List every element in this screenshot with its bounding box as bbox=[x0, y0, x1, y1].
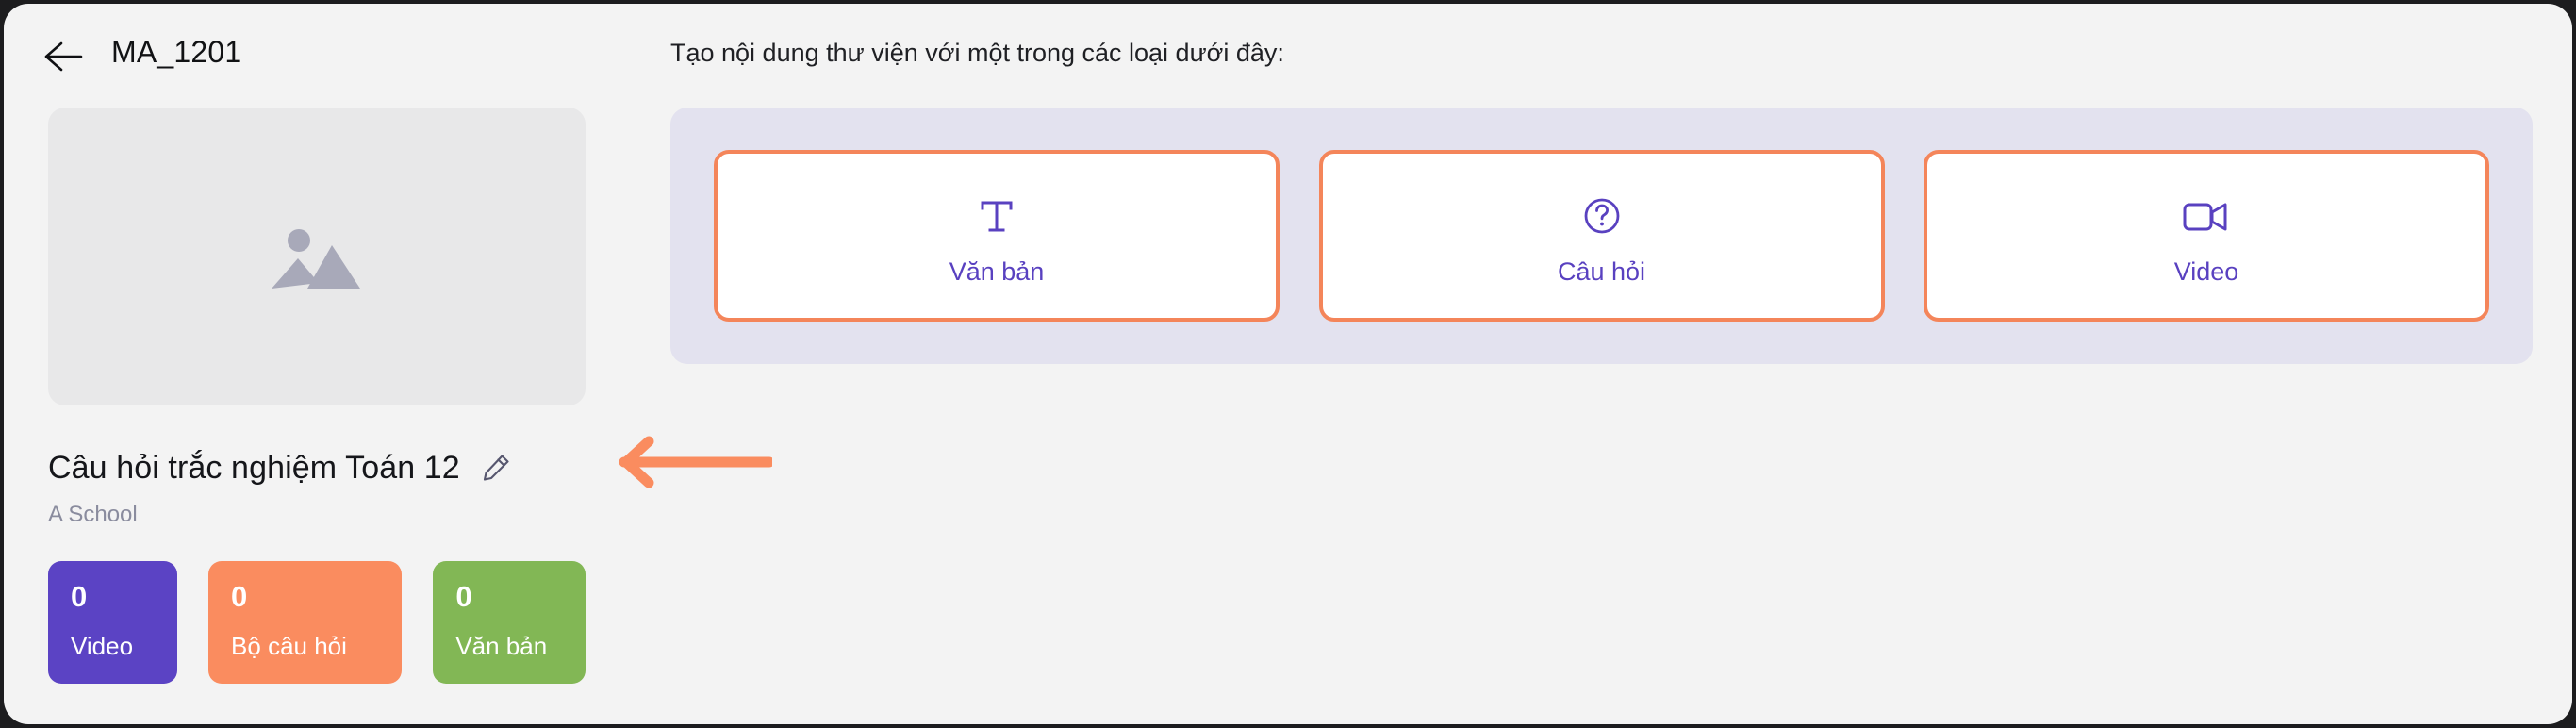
option-card-video[interactable]: Video bbox=[1924, 150, 2489, 322]
stat-tile-text[interactable]: 0 Văn bản bbox=[433, 561, 586, 684]
stat-value: 0 bbox=[455, 582, 563, 611]
stat-tile-group: 0 Video 0 Bộ câu hỏi 0 Văn bản bbox=[48, 561, 586, 684]
item-thumbnail[interactable] bbox=[48, 108, 586, 405]
option-card-text[interactable]: Văn bản bbox=[714, 150, 1280, 322]
annotation-arrow bbox=[617, 436, 772, 488]
arrow-left-icon bbox=[43, 40, 85, 74]
section-heading: Tạo nội dung thư viện với một trong các … bbox=[670, 39, 1284, 68]
image-placeholder-icon bbox=[270, 217, 364, 296]
video-camera-icon bbox=[2181, 186, 2232, 246]
option-label: Văn bản bbox=[949, 257, 1045, 287]
stat-tile-question-set[interactable]: 0 Bộ câu hỏi bbox=[208, 561, 402, 684]
option-label: Câu hỏi bbox=[1558, 257, 1645, 287]
stat-value: 0 bbox=[71, 582, 155, 611]
option-card-question[interactable]: Câu hỏi bbox=[1319, 150, 1885, 322]
option-label: Video bbox=[2174, 257, 2239, 287]
topbar: MA_1201 Tạo nội dung thư viện với một tr… bbox=[4, 4, 2572, 108]
text-format-icon bbox=[974, 186, 1019, 246]
stat-label: Video bbox=[71, 632, 155, 661]
stat-label: Bộ câu hỏi bbox=[231, 632, 379, 661]
item-title-row: Câu hỏi trắc nghiệm Toán 12 bbox=[48, 447, 586, 488]
question-circle-icon bbox=[1579, 186, 1625, 246]
library-item-panel: Câu hỏi trắc nghiệm Toán 12 A School 0 V… bbox=[48, 108, 586, 684]
pencil-edit-icon[interactable] bbox=[479, 451, 513, 485]
item-title: Câu hỏi trắc nghiệm Toán 12 bbox=[48, 450, 460, 487]
breadcrumb-title: MA_1201 bbox=[111, 35, 241, 70]
app-panel: MA_1201 Tạo nội dung thư viện với một tr… bbox=[4, 4, 2572, 724]
back-button[interactable] bbox=[43, 40, 85, 74]
content-type-options: Văn bản Câu hỏi Video bbox=[670, 108, 2533, 364]
stat-value: 0 bbox=[231, 582, 379, 611]
stat-label: Văn bản bbox=[455, 632, 563, 661]
arrow-left-annotation-icon bbox=[617, 436, 772, 488]
stat-tile-video[interactable]: 0 Video bbox=[48, 561, 177, 684]
item-subtitle: A School bbox=[48, 502, 586, 528]
